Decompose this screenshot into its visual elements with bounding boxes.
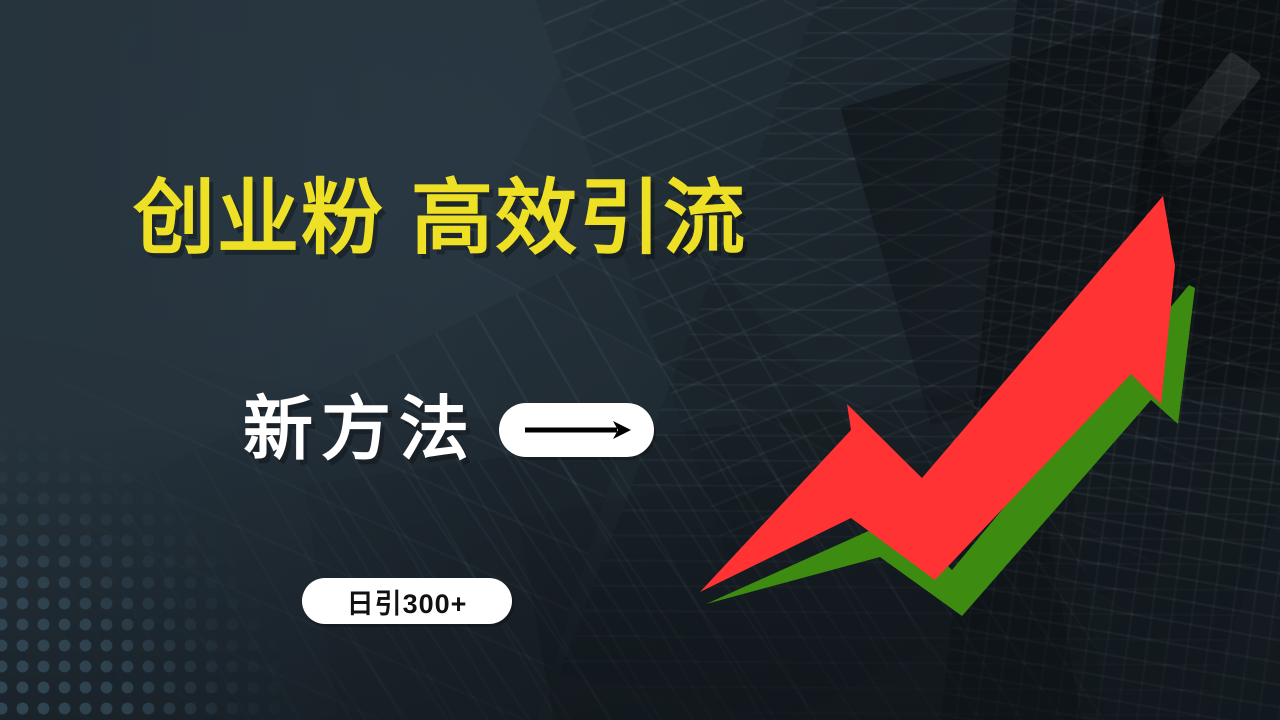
headline-part-2: 高效引流 <box>411 173 747 264</box>
right-arrow-pill-button[interactable] <box>499 403 654 457</box>
page-title: 创业粉高效引流 <box>133 176 747 262</box>
right-arrow-icon <box>521 417 633 443</box>
subline-row: 新方法 <box>243 393 654 467</box>
halftone-dots-pattern <box>0 320 390 720</box>
promo-banner: 创业粉高效引流 新方法 日引300+ <box>0 0 1280 720</box>
headline-part-1: 创业粉 <box>133 173 385 264</box>
status-badge: 日引300+ <box>302 578 512 624</box>
subline-text: 新方法 <box>243 393 477 467</box>
